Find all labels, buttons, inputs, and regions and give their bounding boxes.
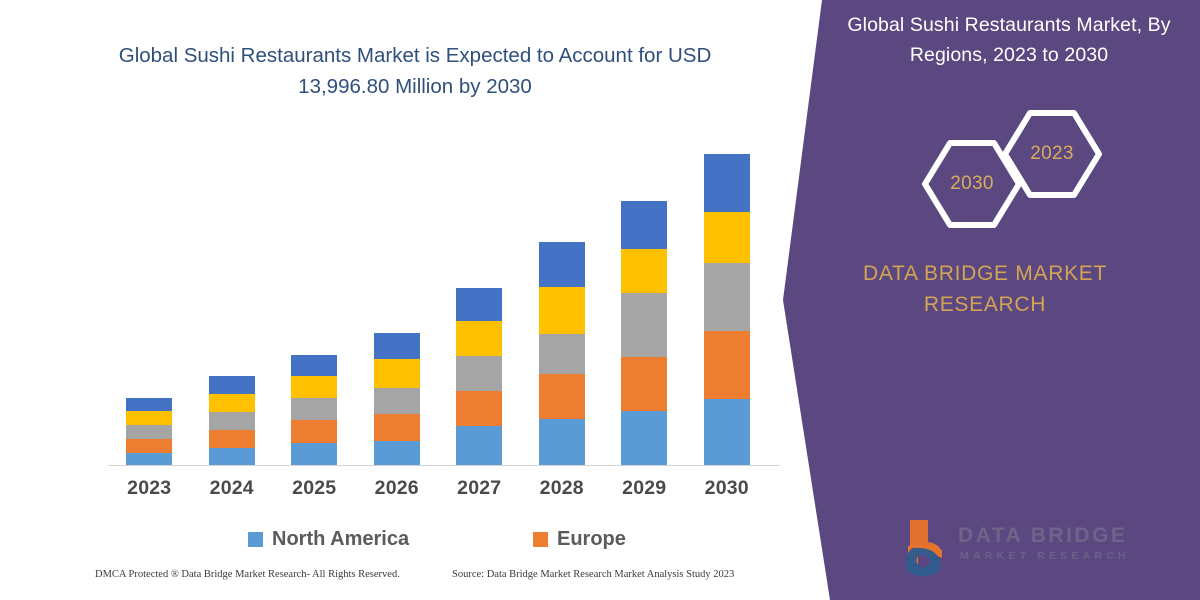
segment-north-america-2027 — [456, 426, 502, 466]
footer-copyright: DMCA Protected ® Data Bridge Market Rese… — [95, 569, 400, 580]
segment-south-america-2025 — [291, 376, 337, 398]
segment-europe-2026 — [374, 414, 420, 441]
segment-middle-east-and-africa-2028 — [539, 242, 585, 287]
segment-south-america-2029 — [621, 249, 667, 293]
segment-asia-pacific-2029 — [621, 293, 667, 357]
segment-middle-east-and-africa-2027 — [456, 288, 502, 321]
x-label-2030: 2030 — [687, 477, 767, 500]
segment-south-america-2028 — [539, 287, 585, 334]
segment-europe-2028 — [539, 374, 585, 419]
hexagon-badge-2023: 2023 — [1000, 108, 1104, 200]
legend-item-europe[interactable]: Europe — [533, 528, 626, 551]
segment-asia-pacific-2028 — [539, 334, 585, 374]
segment-asia-pacific-2025 — [291, 398, 337, 420]
segment-north-america-2029 — [621, 411, 667, 466]
legend-swatch-icon — [248, 532, 263, 547]
segment-middle-east-and-africa-2024 — [209, 376, 255, 394]
segment-south-america-2027 — [456, 321, 502, 356]
segment-asia-pacific-2024 — [209, 412, 255, 430]
segment-middle-east-and-africa-2025 — [291, 355, 337, 376]
brand-panel: Global Sushi Restaurants Market, By Regi… — [770, 0, 1200, 600]
legend-swatch-icon — [533, 532, 548, 547]
segment-south-america-2023 — [126, 411, 172, 425]
segment-europe-2025 — [291, 420, 337, 443]
x-label-2025: 2025 — [274, 477, 354, 500]
segment-north-america-2025 — [291, 443, 337, 466]
segment-europe-2024 — [209, 430, 255, 448]
segment-north-america-2028 — [539, 419, 585, 466]
x-axis-line — [108, 465, 780, 466]
footer-source: Source: Data Bridge Market Research Mark… — [452, 569, 734, 580]
chart-title: Global Sushi Restaurants Market is Expec… — [95, 40, 735, 102]
segment-middle-east-and-africa-2023 — [126, 398, 172, 411]
bar-2030 — [704, 154, 750, 466]
logo-wordmark-top: DATA BRIDGE — [958, 524, 1127, 548]
infographic-root: Global Sushi Restaurants Market is Expec… — [0, 0, 1200, 600]
x-label-2024: 2024 — [192, 477, 272, 500]
chart-legend: North AmericaEurope — [108, 528, 780, 558]
x-label-2027: 2027 — [439, 477, 519, 500]
segment-asia-pacific-2030 — [704, 263, 750, 331]
bar-2023 — [126, 398, 172, 466]
segment-middle-east-and-africa-2029 — [621, 201, 667, 249]
segment-europe-2030 — [704, 331, 750, 399]
segment-europe-2027 — [456, 391, 502, 426]
segment-europe-2029 — [621, 357, 667, 411]
data-bridge-b-monogram-icon — [890, 512, 1140, 584]
segment-south-america-2026 — [374, 359, 420, 388]
segment-asia-pacific-2023 — [126, 425, 172, 439]
panel-title: Global Sushi Restaurants Market, By Regi… — [830, 10, 1188, 70]
stacked-bar-chart — [108, 120, 768, 466]
company-logo: DATA BRIDGE MARKET RESEARCH — [890, 512, 1140, 584]
segment-middle-east-and-africa-2026 — [374, 333, 420, 359]
x-label-2023: 2023 — [109, 477, 189, 500]
brand-name: DATA BRIDGE MARKET RESEARCH — [815, 258, 1155, 320]
hexagon-badge-2030-label: 2030 — [950, 173, 993, 195]
x-axis-tick-labels: 20232024202520262027202820292030 — [108, 477, 780, 507]
segment-south-america-2024 — [209, 394, 255, 412]
hexagon-badges: 2030 2023 — [920, 108, 1105, 218]
segment-north-america-2030 — [704, 399, 750, 466]
segment-europe-2023 — [126, 439, 172, 453]
segment-north-america-2026 — [374, 441, 420, 466]
bar-2026 — [374, 333, 420, 466]
legend-label: Europe — [557, 528, 626, 551]
bar-2025 — [291, 355, 337, 466]
segment-north-america-2024 — [209, 448, 255, 466]
bar-2027 — [456, 288, 502, 466]
segment-middle-east-and-africa-2030 — [704, 154, 750, 212]
x-label-2028: 2028 — [522, 477, 602, 500]
segment-asia-pacific-2026 — [374, 388, 420, 414]
bar-2024 — [209, 376, 255, 466]
legend-item-north-america[interactable]: North America — [248, 528, 409, 551]
x-label-2026: 2026 — [357, 477, 437, 500]
hexagon-badge-2023-label: 2023 — [1030, 143, 1073, 165]
legend-label: North America — [272, 528, 409, 551]
segment-south-america-2030 — [704, 212, 750, 263]
bar-2029 — [621, 201, 667, 466]
logo-wordmark-bottom: MARKET RESEARCH — [960, 550, 1130, 562]
bar-2028 — [539, 242, 585, 466]
x-label-2029: 2029 — [604, 477, 684, 500]
segment-asia-pacific-2027 — [456, 356, 502, 391]
